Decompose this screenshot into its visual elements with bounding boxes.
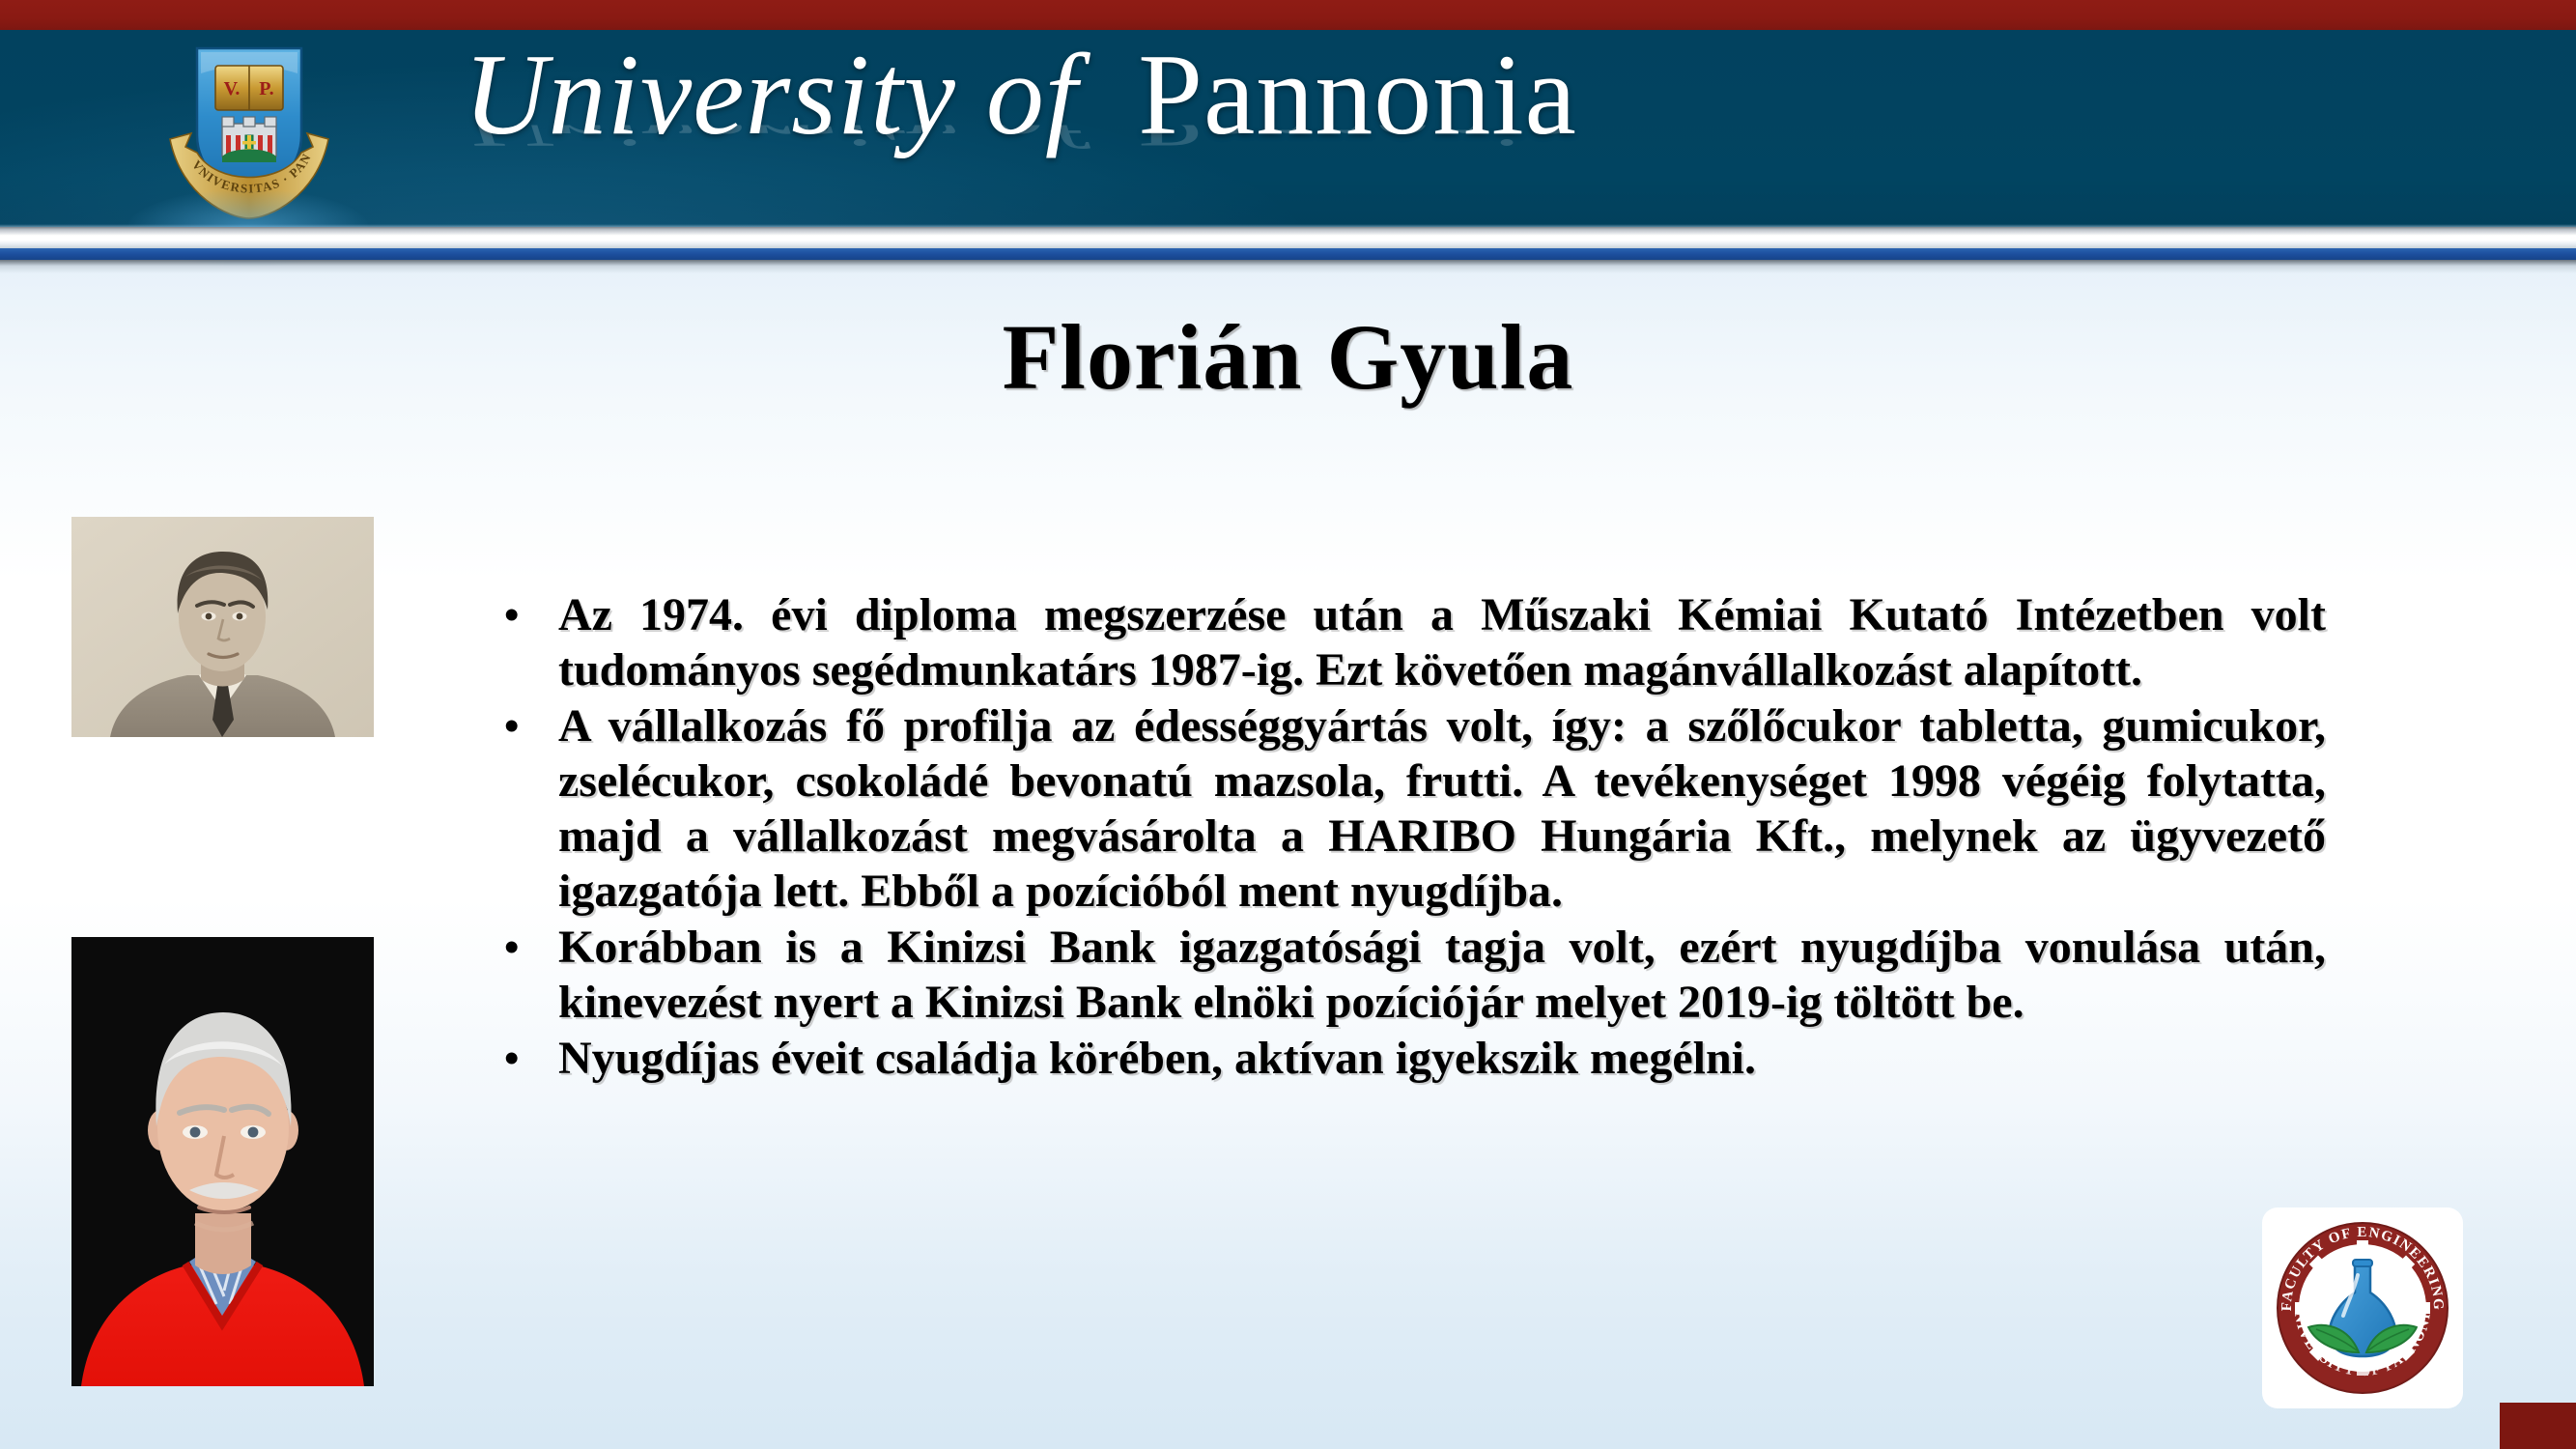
page-title: Florián Gyula — [0, 304, 2576, 411]
header-blue-rule — [0, 248, 2576, 260]
bullet-list: • Az 1974. évi diploma megszerzése után … — [491, 587, 2326, 1087]
portrait-senior-image — [71, 937, 374, 1386]
bullet-text: Korábban is a Kinizsi Bank igazgatósági … — [558, 920, 2326, 1030]
wordmark-pannonia: Pannonia — [1138, 30, 1577, 158]
svg-text:V.: V. — [224, 78, 241, 99]
list-item: • Az 1974. évi diploma megszerzése után … — [491, 587, 2326, 697]
faculty-of-engineering-seal: FACULTY OF ENGINEERING UNIVERSITY OF PAN… — [2262, 1207, 2463, 1408]
list-item: • Nyugdíjas éveit családja körében, aktí… — [491, 1031, 2326, 1086]
university-crest-logo: V. P. — [162, 35, 336, 228]
header-separator — [0, 227, 2576, 248]
svg-text:P.: P. — [259, 78, 273, 99]
wordmark-of: of — [986, 30, 1078, 158]
bullet-text: A vállalkozás fő profilja az édességgyár… — [558, 698, 2326, 919]
bullet-dot-icon: • — [491, 587, 558, 642]
faculty-seal-icon: FACULTY OF ENGINEERING UNIVERSITY OF PAN… — [2262, 1207, 2463, 1408]
bullet-dot-icon: • — [491, 1031, 558, 1086]
university-wordmark: University of Pannonia — [464, 27, 2106, 162]
portrait-photo-senior — [71, 937, 374, 1386]
bullet-text: Nyugdíjas éveit családja körében, aktíva… — [558, 1031, 2326, 1086]
bullet-dot-icon: • — [491, 698, 558, 753]
list-item: • A vállalkozás fő profilja az édességgy… — [491, 698, 2326, 919]
header-rule-shadow — [0, 260, 2576, 273]
corner-accent-block — [2500, 1403, 2576, 1449]
portrait-photo-young — [71, 517, 374, 737]
bullet-text: Az 1974. évi diploma megszerzése után a … — [558, 587, 2326, 697]
slide-canvas: V. P. — [0, 0, 2576, 1449]
bullet-dot-icon: • — [491, 920, 558, 975]
wordmark-university: University — [464, 30, 956, 158]
portrait-young-image — [71, 517, 374, 737]
list-item: • Korábban is a Kinizsi Bank igazgatóság… — [491, 920, 2326, 1030]
header-red-band — [0, 0, 2576, 30]
